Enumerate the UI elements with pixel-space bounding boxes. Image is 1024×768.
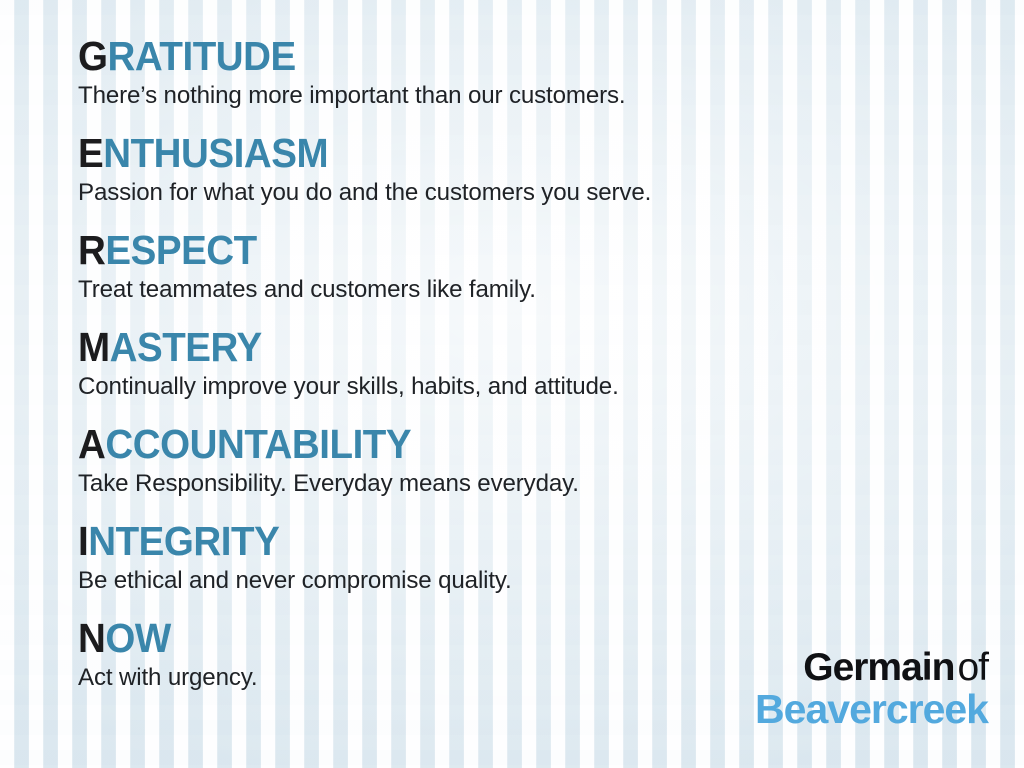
value-block-integrity: INTEGRITY Be ethical and never compromis… — [78, 521, 998, 595]
logo-brand-name: Germain — [803, 646, 954, 689]
core-values-list: GRATITUDE There’s nothing more important… — [78, 36, 998, 715]
value-heading-mastery: MASTERY — [78, 327, 943, 369]
value-initial: N — [78, 615, 105, 661]
value-description-respect: Treat teammates and customers like famil… — [78, 276, 984, 304]
value-heading-rest: OW — [105, 615, 170, 661]
value-block-gratitude: GRATITUDE There’s nothing more important… — [78, 36, 998, 110]
value-block-respect: RESPECT Treat teammates and customers li… — [78, 230, 998, 304]
value-heading-respect: RESPECT — [78, 230, 943, 272]
values-poster: GRATITUDE There’s nothing more important… — [0, 0, 1024, 768]
value-heading-enthusiasm: ENTHUSIASM — [78, 133, 943, 175]
value-initial: R — [78, 227, 105, 273]
value-heading-rest: RATITUDE — [108, 33, 296, 79]
value-heading-integrity: INTEGRITY — [78, 521, 943, 563]
logo-location-name: Beavercreek — [755, 689, 988, 730]
value-heading-rest: CCOUNTABILITY — [105, 421, 411, 467]
value-heading-rest: ESPECT — [105, 227, 256, 273]
value-description-gratitude: There’s nothing more important than our … — [78, 82, 984, 110]
value-heading-rest: ASTERY — [110, 324, 262, 370]
value-heading-rest: NTHUSIASM — [103, 130, 328, 176]
value-initial: E — [78, 130, 103, 176]
value-block-accountability: ACCOUNTABILITY Take Responsibility. Ever… — [78, 424, 998, 498]
value-description-integrity: Be ethical and never compromise quality. — [78, 567, 984, 595]
value-initial: I — [78, 518, 88, 564]
value-heading-accountability: ACCOUNTABILITY — [78, 424, 943, 466]
value-description-accountability: Take Responsibility. Everyday means ever… — [78, 470, 984, 498]
value-block-enthusiasm: ENTHUSIASM Passion for what you do and t… — [78, 133, 998, 207]
value-description-mastery: Continually improve your skills, habits,… — [78, 373, 984, 401]
value-initial: A — [78, 421, 105, 467]
logo-primary-line: Germainof — [755, 648, 988, 687]
value-heading-rest: NTEGRITY — [88, 518, 279, 564]
value-heading-gratitude: GRATITUDE — [78, 36, 943, 78]
logo-connector: of — [957, 646, 988, 689]
dealership-logo: Germainof Beavercreek — [755, 648, 988, 730]
value-initial: M — [78, 324, 110, 370]
value-description-enthusiasm: Passion for what you do and the customer… — [78, 179, 984, 207]
value-block-mastery: MASTERY Continually improve your skills,… — [78, 327, 998, 401]
value-initial: G — [78, 33, 108, 79]
